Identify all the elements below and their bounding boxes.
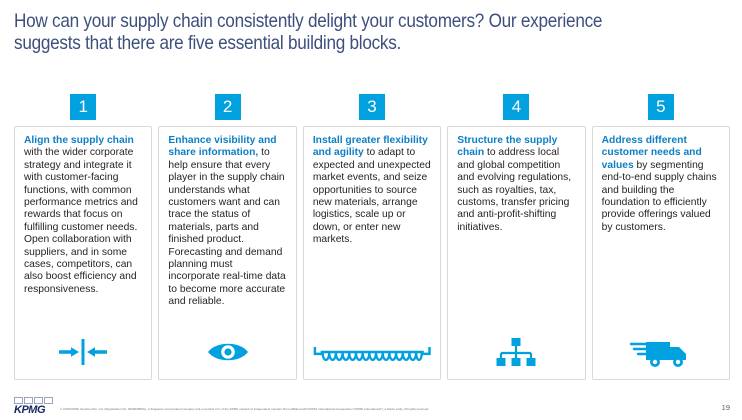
align-arrows-icon	[24, 333, 142, 373]
block-number-badge-3: 3	[359, 94, 385, 120]
org-chart-icon	[457, 333, 575, 373]
building-block-1: 1 Align the supply chain with the wider …	[14, 94, 152, 380]
kpmg-logo: KPMG	[14, 397, 58, 416]
page-number: 19	[722, 403, 730, 412]
kpmg-logo-wordmark: KPMG	[14, 405, 58, 416]
block-number-badge-1: 1	[70, 94, 96, 120]
block-lead-1: Align the supply chain	[24, 135, 134, 146]
block-body-2: to help ensure that every player in the …	[168, 147, 285, 307]
block-text-1: Align the supply chain with the wider co…	[24, 135, 142, 333]
block-card-1: Align the supply chain with the wider co…	[14, 126, 152, 380]
building-block-4: 4 Structure the supply chain to address …	[447, 94, 585, 380]
block-number-badge-4: 4	[503, 94, 529, 120]
building-blocks-container: 1 Align the supply chain with the wider …	[14, 94, 730, 380]
block-card-4: Structure the supply chain to address lo…	[447, 126, 585, 380]
block-number-badge-5: 5	[648, 94, 674, 120]
block-number-badge-2: 2	[215, 94, 241, 120]
delivery-truck-icon	[602, 333, 720, 373]
block-text-4: Structure the supply chain to address lo…	[457, 135, 575, 333]
block-body-1: with the wider corporate strategy and in…	[24, 147, 138, 294]
block-text-5: Address different customer needs and val…	[602, 135, 720, 333]
building-block-3: 3 Install greater flexibility and agilit…	[303, 94, 441, 380]
page-title: How can your supply chain consistently d…	[14, 10, 642, 54]
kpmg-logo-squares	[14, 397, 58, 404]
block-text-3: Install greater flexibility and agility …	[313, 135, 431, 333]
block-body-3: to adapt to expected and unexpected mark…	[313, 147, 431, 245]
footer: KPMG © 2018 KPMG Services Pte. Ltd. (Reg…	[0, 386, 742, 420]
block-body-4: to address local and global competition …	[457, 147, 571, 232]
spring-coil-icon	[313, 333, 431, 373]
block-card-2: Enhance visibility and share information…	[158, 126, 296, 380]
block-text-2: Enhance visibility and share information…	[168, 135, 286, 333]
eye-icon	[168, 333, 286, 373]
copyright-text: © 2018 KPMG Services Pte. Ltd. (Registra…	[60, 407, 680, 411]
building-block-2: 2 Enhance visibility and share informati…	[158, 94, 296, 380]
block-card-3: Install greater flexibility and agility …	[303, 126, 441, 380]
block-card-5: Address different customer needs and val…	[592, 126, 730, 380]
building-block-5: 5 Address different customer needs and v…	[592, 94, 730, 380]
